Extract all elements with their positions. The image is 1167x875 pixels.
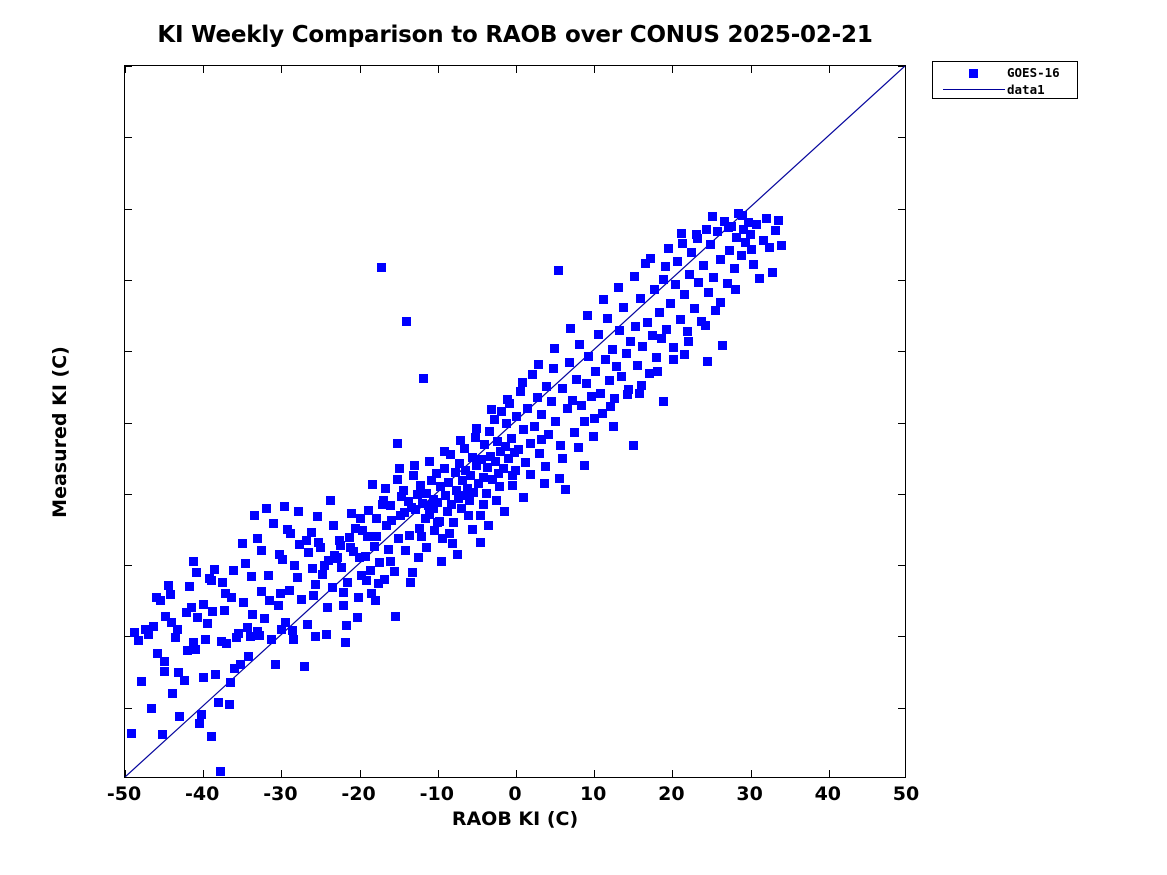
scatter-point bbox=[568, 396, 577, 405]
scatter-point bbox=[469, 488, 478, 497]
scatter-point bbox=[526, 470, 535, 479]
scatter-point bbox=[480, 440, 489, 449]
scatter-point bbox=[187, 603, 196, 612]
scatter-point bbox=[218, 578, 227, 587]
scatter-point bbox=[549, 364, 558, 373]
scatter-point bbox=[617, 372, 626, 381]
x-tick-label: 40 bbox=[815, 783, 841, 805]
scatter-point bbox=[241, 559, 250, 568]
scatter-point bbox=[503, 395, 512, 404]
scatter-point bbox=[304, 548, 313, 557]
scatter-point bbox=[514, 445, 523, 454]
scatter-point bbox=[335, 536, 344, 545]
scatter-point bbox=[487, 405, 496, 414]
scatter-point bbox=[655, 308, 664, 317]
scatter-point bbox=[368, 480, 377, 489]
scatter-point bbox=[711, 306, 720, 315]
scatter-point bbox=[577, 401, 586, 410]
scatter-point bbox=[201, 635, 210, 644]
scatter-point bbox=[554, 266, 563, 275]
scatter-point bbox=[160, 657, 169, 666]
x-tick-label: -30 bbox=[263, 783, 297, 805]
scatter-point bbox=[603, 314, 612, 323]
scatter-point bbox=[269, 519, 278, 528]
scatter-point bbox=[363, 532, 372, 541]
scatter-point bbox=[307, 528, 316, 537]
scatter-point bbox=[472, 424, 481, 433]
scatter-point bbox=[657, 334, 666, 343]
scatter-point bbox=[608, 345, 617, 354]
scatter-point bbox=[676, 315, 685, 324]
scatter-point bbox=[580, 417, 589, 426]
y-axis-label: Measured KI (C) bbox=[49, 272, 71, 592]
scatter-point bbox=[339, 588, 348, 597]
scatter-point bbox=[437, 557, 446, 566]
scatter-point bbox=[222, 639, 231, 648]
scatter-point bbox=[414, 553, 423, 562]
scatter-point bbox=[716, 255, 725, 264]
legend-entry-goes16[interactable]: GOES-16 bbox=[933, 64, 1079, 81]
scatter-point bbox=[274, 601, 283, 610]
scatter-point bbox=[582, 379, 591, 388]
scatter-point bbox=[316, 543, 325, 552]
scatter-point bbox=[386, 501, 395, 510]
scatter-point bbox=[591, 367, 600, 376]
x-tick-label: -40 bbox=[185, 783, 219, 805]
scatter-point bbox=[419, 374, 428, 383]
scatter-point bbox=[193, 613, 202, 622]
scatter-point bbox=[471, 433, 480, 442]
scatter-point bbox=[551, 417, 560, 426]
scatter-point bbox=[144, 630, 153, 639]
scatter-point bbox=[337, 563, 346, 572]
scatter-point bbox=[677, 229, 686, 238]
scatter-point bbox=[680, 350, 689, 359]
scatter-point bbox=[367, 589, 376, 598]
scatter-point bbox=[394, 534, 403, 543]
scatter-point bbox=[464, 511, 473, 520]
scatter-point bbox=[203, 619, 212, 628]
scatter-point bbox=[445, 529, 454, 538]
scatter-point bbox=[175, 712, 184, 721]
scatter-point bbox=[587, 392, 596, 401]
scatter-point bbox=[225, 700, 234, 709]
scatter-point bbox=[393, 475, 402, 484]
scatter-point bbox=[197, 710, 206, 719]
scatter-point bbox=[479, 473, 488, 482]
scatter-point bbox=[500, 507, 509, 516]
scatter-point bbox=[285, 586, 294, 595]
chart-legend[interactable]: GOES-16 data1 bbox=[932, 61, 1078, 99]
scatter-point bbox=[342, 621, 351, 630]
scatter-point bbox=[547, 397, 556, 406]
scatter-point bbox=[214, 698, 223, 707]
scatter-point bbox=[255, 631, 264, 640]
scatter-point bbox=[171, 633, 180, 642]
scatter-point bbox=[565, 358, 574, 367]
scatter-point bbox=[694, 278, 703, 287]
scatter-point bbox=[207, 732, 216, 741]
scatter-point bbox=[378, 500, 387, 509]
scatter-point bbox=[290, 561, 299, 570]
scatter-point bbox=[406, 578, 415, 587]
scatter-point bbox=[706, 240, 715, 249]
scatter-point bbox=[294, 507, 303, 516]
scatter-point bbox=[693, 234, 702, 243]
scatter-point bbox=[521, 458, 530, 467]
scatter-point bbox=[523, 404, 532, 413]
scatter-point bbox=[468, 525, 477, 534]
scatter-point bbox=[180, 676, 189, 685]
scatter-point bbox=[152, 593, 161, 602]
scatter-point bbox=[530, 422, 539, 431]
scatter-point bbox=[300, 662, 309, 671]
scatter-point bbox=[507, 434, 516, 443]
legend-label-goes16: GOES-16 bbox=[1007, 65, 1060, 80]
scatter-point bbox=[476, 538, 485, 547]
scatter-point bbox=[174, 668, 183, 677]
scatter-point bbox=[615, 326, 624, 335]
scatter-point bbox=[485, 427, 494, 436]
scatter-point bbox=[160, 667, 169, 676]
scatter-point bbox=[661, 262, 670, 271]
scatter-point bbox=[704, 288, 713, 297]
scatter-point bbox=[659, 275, 668, 284]
scatter-point bbox=[413, 490, 422, 499]
scatter-point bbox=[574, 443, 583, 452]
scatter-point bbox=[210, 565, 219, 574]
scatter-point bbox=[366, 566, 375, 575]
scatter-point bbox=[747, 245, 756, 254]
scatter-point bbox=[558, 454, 567, 463]
scatter-point bbox=[626, 337, 635, 346]
scatter-point bbox=[313, 512, 322, 521]
scatter-point bbox=[329, 521, 338, 530]
scatter-point bbox=[346, 543, 355, 552]
x-tick-label: 50 bbox=[893, 783, 919, 805]
scatter-point bbox=[229, 566, 238, 575]
scatter-point bbox=[309, 591, 318, 600]
scatter-point bbox=[685, 270, 694, 279]
scatter-point bbox=[333, 553, 342, 562]
x-tick-label: -10 bbox=[420, 783, 454, 805]
legend-square-marker-icon bbox=[969, 69, 978, 78]
scatter-point bbox=[765, 243, 774, 252]
scatter-point bbox=[393, 439, 402, 448]
scatter-point bbox=[669, 355, 678, 364]
scatter-point bbox=[724, 223, 733, 232]
scatter-point bbox=[127, 729, 136, 738]
scatter-point bbox=[158, 730, 167, 739]
scatter-point bbox=[399, 486, 408, 495]
scatter-point bbox=[575, 340, 584, 349]
scatter-point bbox=[247, 572, 256, 581]
scatter-point bbox=[326, 496, 335, 505]
scatter-point bbox=[149, 622, 158, 631]
scatter-point bbox=[664, 244, 673, 253]
scatter-point bbox=[566, 324, 575, 333]
scatter-point bbox=[738, 211, 747, 220]
scatter-point bbox=[669, 343, 678, 352]
scatter-point bbox=[533, 393, 542, 402]
scatter-point bbox=[541, 462, 550, 471]
scatter-point bbox=[653, 367, 662, 376]
scatter-point bbox=[580, 461, 589, 470]
scatter-point bbox=[189, 557, 198, 566]
scatter-point bbox=[558, 384, 567, 393]
scatter-point bbox=[271, 660, 280, 669]
scatter-point bbox=[638, 342, 647, 351]
scatter-point bbox=[684, 337, 693, 346]
scatter-point bbox=[590, 414, 599, 423]
scatter-point bbox=[476, 511, 485, 520]
x-tick-label: 10 bbox=[580, 783, 606, 805]
scatter-point bbox=[497, 407, 506, 416]
scatter-point bbox=[519, 425, 528, 434]
scatter-point bbox=[211, 670, 220, 679]
scatter-point bbox=[248, 610, 257, 619]
scatter-point bbox=[372, 532, 381, 541]
legend-entry-data1[interactable]: data1 bbox=[933, 81, 1079, 98]
scatter-point bbox=[605, 376, 614, 385]
scatter-point bbox=[137, 677, 146, 686]
scatter-point bbox=[308, 564, 317, 573]
scatter-point bbox=[257, 587, 266, 596]
scatter-point bbox=[267, 635, 276, 644]
scatter-point bbox=[167, 618, 176, 627]
scatter-point bbox=[453, 550, 462, 559]
scatter-point bbox=[134, 636, 143, 645]
scatter-point bbox=[614, 283, 623, 292]
scatter-point bbox=[716, 298, 725, 307]
scatter-point bbox=[501, 442, 510, 451]
scatter-point bbox=[381, 484, 390, 493]
scatter-point bbox=[725, 246, 734, 255]
scatter-point bbox=[550, 344, 559, 353]
legend-line-swatch-icon bbox=[943, 89, 1005, 90]
scatter-point bbox=[390, 567, 399, 576]
scatter-point bbox=[166, 590, 175, 599]
scatter-point bbox=[479, 500, 488, 509]
scatter-point bbox=[208, 607, 217, 616]
scatter-point bbox=[636, 294, 645, 303]
scatter-point bbox=[709, 273, 718, 282]
scatter-point bbox=[482, 489, 491, 498]
scatter-point bbox=[395, 464, 404, 473]
scatter-point bbox=[409, 471, 418, 480]
scatter-point bbox=[199, 673, 208, 682]
scatter-point bbox=[687, 248, 696, 257]
scatter-point bbox=[288, 626, 297, 635]
scatter-point bbox=[535, 449, 544, 458]
scatter-point bbox=[207, 576, 216, 585]
scatter-point bbox=[542, 382, 551, 391]
scatter-point bbox=[449, 518, 458, 527]
scatter-point bbox=[534, 360, 543, 369]
scatter-point bbox=[737, 251, 746, 260]
scatter-point bbox=[701, 321, 710, 330]
scatter-point bbox=[666, 299, 675, 308]
scatter-point bbox=[311, 632, 320, 641]
x-axis-label: RAOB KI (C) bbox=[124, 808, 906, 830]
x-tick-label: 20 bbox=[658, 783, 684, 805]
scatter-point bbox=[606, 402, 615, 411]
x-tick-label: 0 bbox=[508, 783, 521, 805]
scatter-point bbox=[456, 436, 465, 445]
scatter-point bbox=[774, 216, 783, 225]
scatter-point bbox=[257, 546, 266, 555]
scatter-point bbox=[673, 257, 682, 266]
scatter-point bbox=[185, 582, 194, 591]
scatter-point bbox=[526, 439, 535, 448]
x-tick-label: -50 bbox=[107, 783, 141, 805]
scatter-point bbox=[343, 578, 352, 587]
scatter-point bbox=[731, 285, 740, 294]
scatter-point bbox=[422, 543, 431, 552]
scatter-point bbox=[643, 318, 652, 327]
scatter-point bbox=[216, 767, 225, 776]
scatter-point bbox=[448, 539, 457, 548]
scatter-point bbox=[238, 539, 247, 548]
chart-figure: KI Weekly Comparison to RAOB over CONUS … bbox=[0, 0, 1167, 875]
scatter-point bbox=[384, 545, 393, 554]
scatter-point bbox=[375, 558, 384, 567]
scatter-point bbox=[671, 280, 680, 289]
scatter-point bbox=[234, 629, 243, 638]
scatter-point bbox=[755, 274, 764, 283]
scatter-point bbox=[718, 341, 727, 350]
scatter-point bbox=[386, 557, 395, 566]
scatter-point bbox=[260, 614, 269, 623]
scatter-point bbox=[612, 362, 621, 371]
scatter-point bbox=[297, 595, 306, 604]
scatter-point bbox=[265, 596, 274, 605]
scatter-point bbox=[572, 375, 581, 384]
scatter-point bbox=[596, 389, 605, 398]
scatter-point bbox=[461, 491, 470, 500]
scatter-point bbox=[262, 504, 271, 513]
chart-title: KI Weekly Comparison to RAOB over CONUS … bbox=[124, 22, 906, 48]
scatter-point bbox=[519, 493, 528, 502]
scatter-point bbox=[341, 638, 350, 647]
scatter-point bbox=[328, 583, 337, 592]
scatter-point bbox=[405, 531, 414, 540]
scatter-point bbox=[339, 601, 348, 610]
scatter-point bbox=[511, 466, 520, 475]
scatter-point bbox=[303, 620, 312, 629]
scatter-point bbox=[622, 349, 631, 358]
scatter-point bbox=[537, 410, 546, 419]
scatter-point bbox=[537, 435, 546, 444]
scatter-point bbox=[544, 430, 553, 439]
scatter-point bbox=[690, 304, 699, 313]
scatter-point bbox=[652, 353, 661, 362]
scatter-point bbox=[230, 664, 239, 673]
scatter-point bbox=[401, 546, 410, 555]
scatter-point bbox=[433, 518, 442, 527]
scatter-point bbox=[730, 264, 739, 273]
scatter-marker-layer bbox=[125, 66, 905, 777]
scatter-point bbox=[512, 412, 521, 421]
scatter-point bbox=[752, 220, 761, 229]
scatter-point bbox=[286, 529, 295, 538]
scatter-point bbox=[380, 575, 389, 584]
scatter-point bbox=[490, 415, 499, 424]
scatter-point bbox=[244, 652, 253, 661]
scatter-point bbox=[499, 464, 508, 473]
scatter-point bbox=[323, 603, 332, 612]
legend-label-data1: data1 bbox=[1007, 82, 1045, 97]
scatter-point bbox=[345, 533, 354, 542]
scatter-point bbox=[253, 534, 262, 543]
scatter-point bbox=[195, 719, 204, 728]
scatter-point bbox=[563, 404, 572, 413]
scatter-point bbox=[777, 241, 786, 250]
scatter-point bbox=[662, 325, 671, 334]
scatter-point bbox=[599, 295, 608, 304]
scatter-point bbox=[762, 214, 771, 223]
scatter-point bbox=[221, 589, 230, 598]
scatter-point bbox=[402, 317, 411, 326]
scatter-point bbox=[678, 239, 687, 248]
scatter-point bbox=[659, 397, 668, 406]
scatter-point bbox=[408, 568, 417, 577]
scatter-point bbox=[280, 502, 289, 511]
scatter-point bbox=[322, 630, 331, 639]
scatter-point bbox=[601, 355, 610, 364]
scatter-point bbox=[362, 576, 371, 585]
scatter-point bbox=[356, 514, 365, 523]
scatter-point bbox=[354, 593, 363, 602]
scatter-point bbox=[417, 532, 426, 541]
scatter-point bbox=[460, 444, 469, 453]
scatter-point bbox=[370, 542, 379, 551]
scatter-point bbox=[192, 568, 201, 577]
scatter-point bbox=[635, 389, 644, 398]
scatter-point bbox=[391, 612, 400, 621]
scatter-point bbox=[584, 352, 593, 361]
scatter-point bbox=[746, 230, 755, 239]
scatter-point bbox=[650, 285, 659, 294]
scatter-point bbox=[250, 511, 259, 520]
scatter-point bbox=[589, 432, 598, 441]
scatter-point bbox=[702, 225, 711, 234]
scatter-point bbox=[484, 521, 493, 530]
scatter-point bbox=[183, 646, 192, 655]
scatter-point bbox=[410, 461, 419, 470]
scatter-point bbox=[440, 447, 449, 456]
scatter-point bbox=[583, 311, 592, 320]
scatter-point bbox=[556, 441, 565, 450]
scatter-point bbox=[749, 260, 758, 269]
scatter-point bbox=[683, 327, 692, 336]
scatter-point bbox=[518, 378, 527, 387]
scatter-point bbox=[226, 678, 235, 687]
x-tick-label: 30 bbox=[736, 783, 762, 805]
scatter-point bbox=[768, 268, 777, 277]
scatter-point bbox=[289, 635, 298, 644]
scatter-point bbox=[713, 227, 722, 236]
x-tick-label: -20 bbox=[341, 783, 375, 805]
scatter-point bbox=[561, 485, 570, 494]
scatter-point bbox=[264, 571, 273, 580]
scatter-point bbox=[623, 390, 632, 399]
scatter-point bbox=[492, 496, 501, 505]
scatter-point bbox=[516, 387, 525, 396]
scatter-point bbox=[377, 263, 386, 272]
scatter-point bbox=[708, 212, 717, 221]
scatter-point bbox=[440, 464, 449, 473]
